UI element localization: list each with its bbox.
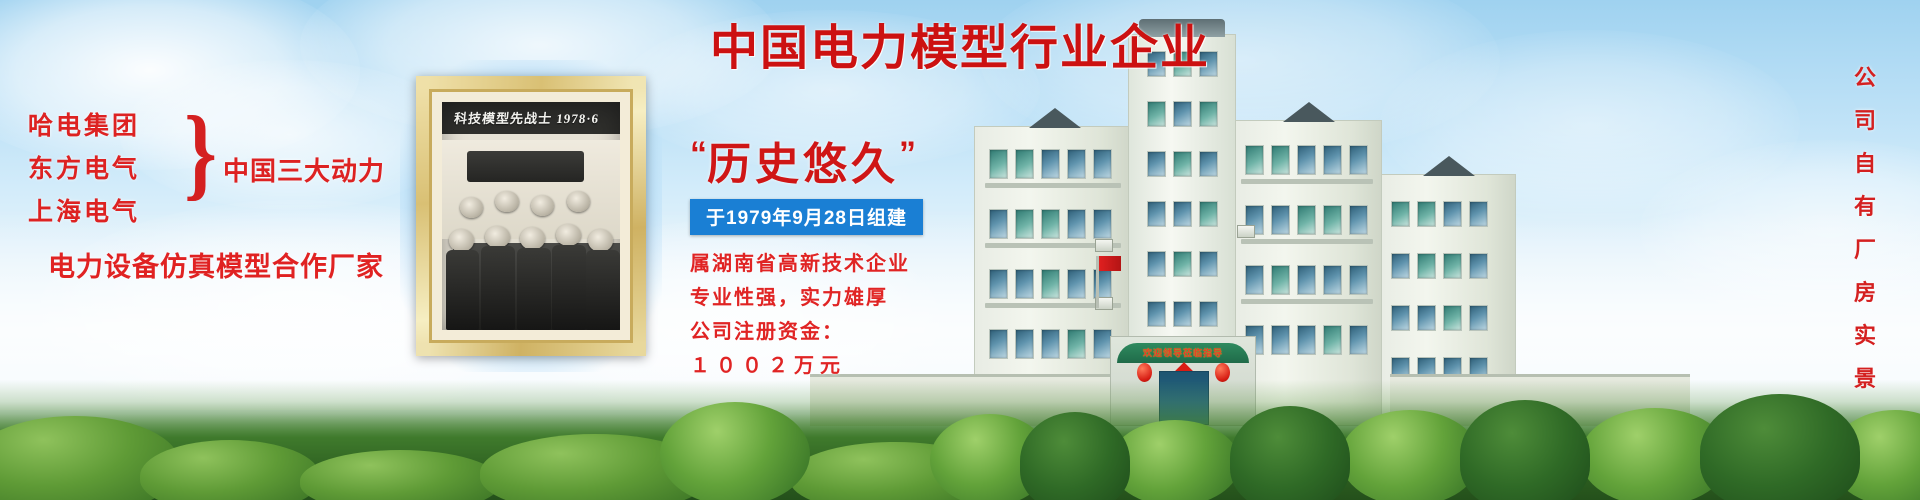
window — [1199, 101, 1218, 127]
vertical-char: 有 — [1848, 185, 1882, 228]
tree — [660, 402, 810, 500]
photo-person-head — [556, 224, 581, 247]
window — [1469, 253, 1488, 279]
window — [989, 209, 1008, 239]
history-headline: “历史悠久” — [690, 126, 923, 193]
photo-desk — [467, 151, 584, 181]
window — [1297, 145, 1316, 175]
vertical-char: 司 — [1848, 99, 1882, 142]
window — [1323, 265, 1342, 295]
window — [1147, 301, 1166, 327]
window — [1041, 209, 1060, 239]
three-power-group: 哈电集团 东方电气 上海电气 } 中国三大动力 — [28, 105, 338, 235]
window — [1323, 205, 1342, 235]
balcony-rail — [1241, 299, 1373, 304]
window-row — [1245, 265, 1368, 295]
window-row — [1147, 151, 1218, 177]
window — [1173, 251, 1192, 277]
window-row — [1245, 145, 1368, 175]
photo-person-body — [517, 248, 551, 330]
window — [1349, 265, 1368, 295]
window — [1417, 305, 1436, 331]
window — [1041, 149, 1060, 179]
tree — [1340, 410, 1480, 500]
promo-banner: 欢迎领导莅临指导 中国电力模型行业企业 哈电集团 东方电气 上海电气 } 中国三… — [0, 0, 1920, 500]
photo-person-head — [460, 197, 483, 218]
window — [1323, 145, 1342, 175]
balcony-rail — [985, 183, 1121, 188]
photo-person-body — [446, 250, 480, 330]
window-row — [1245, 205, 1368, 235]
window — [1469, 305, 1488, 331]
founding-date-badge: 于1979年9月28日组建 — [690, 199, 923, 235]
window — [1199, 251, 1218, 277]
photo-banner-caption: 科技模型先战士 1978·6 — [453, 106, 616, 132]
window-row — [1147, 201, 1218, 227]
photo-person-body — [552, 245, 586, 331]
tree — [1020, 412, 1130, 500]
photo-person-head — [449, 229, 474, 252]
window — [1443, 201, 1462, 227]
window — [1271, 145, 1290, 175]
window — [1093, 209, 1112, 239]
roof-pediment — [1423, 156, 1475, 176]
window — [1041, 269, 1060, 299]
window — [1067, 149, 1086, 179]
three-power-label: 中国三大动力 — [223, 151, 385, 188]
window — [1147, 151, 1166, 177]
photo-people-group — [442, 140, 620, 330]
window-row — [1245, 325, 1368, 355]
window — [1147, 251, 1166, 277]
window-row — [989, 329, 1112, 359]
vertical-char: 景 — [1848, 357, 1882, 400]
window — [1173, 301, 1192, 327]
window — [989, 269, 1008, 299]
window — [1173, 101, 1192, 127]
vertical-char: 自 — [1848, 142, 1882, 185]
window — [1349, 325, 1368, 355]
window-row — [1391, 305, 1488, 331]
window — [1469, 201, 1488, 227]
photo-person-head — [495, 191, 518, 212]
window-row — [1147, 101, 1218, 127]
historic-photo-frame: 科技模型先战士 1978·6 — [416, 76, 646, 356]
window — [1391, 253, 1410, 279]
window — [1041, 329, 1060, 359]
window — [1067, 209, 1086, 239]
window — [989, 149, 1008, 179]
window — [1173, 151, 1192, 177]
quote-open: “ — [690, 135, 707, 173]
window-row — [989, 209, 1112, 239]
window — [1271, 205, 1290, 235]
air-conditioner-unit — [1095, 239, 1113, 252]
window-row — [1147, 251, 1218, 277]
window — [1271, 325, 1290, 355]
tree — [1700, 394, 1860, 500]
window — [1417, 201, 1436, 227]
gold-picture-frame: 科技模型先战士 1978·6 — [416, 76, 646, 356]
photo-person-head — [485, 226, 510, 249]
window — [1015, 329, 1034, 359]
air-conditioner-unit — [1237, 225, 1255, 238]
window — [1015, 269, 1034, 299]
vertical-char: 厂 — [1848, 228, 1882, 271]
factory-building-photo: 欢迎领导莅临指导 — [960, 26, 1600, 426]
photo-person-body — [481, 246, 515, 330]
balcony-rail — [1241, 239, 1373, 244]
center-info-block: “历史悠久” 于1979年9月28日组建 属湖南省高新技术企业 专业性强，实力雄… — [690, 126, 923, 383]
vertical-char: 房 — [1848, 271, 1882, 314]
window — [1147, 201, 1166, 227]
window — [1015, 209, 1034, 239]
window — [1067, 329, 1086, 359]
history-text: 历史悠久 — [707, 140, 899, 189]
window — [1015, 149, 1034, 179]
historic-group-photo: 科技模型先战士 1978·6 — [442, 102, 620, 330]
window — [1199, 151, 1218, 177]
window — [1173, 201, 1192, 227]
photo-person-head — [567, 191, 590, 212]
window — [1297, 205, 1316, 235]
window — [1245, 265, 1264, 295]
vertical-char: 公 — [1848, 56, 1882, 99]
detail-line: 专业性强，实力雄厚 — [690, 281, 923, 315]
brace-icon: } — [184, 101, 217, 205]
window — [1323, 325, 1342, 355]
window — [1349, 145, 1368, 175]
vertical-char: 实 — [1848, 314, 1882, 357]
registered-capital-value: １００２万元 — [690, 349, 923, 383]
right-vertical-caption: 公 司 自 有 厂 房 实 景 — [1848, 56, 1882, 400]
window-row — [1147, 301, 1218, 327]
window — [1199, 201, 1218, 227]
quote-close: ” — [899, 135, 916, 173]
photo-person-head — [588, 229, 613, 252]
page-title: 中国电力模型行业企业 — [0, 8, 1920, 78]
window-row — [1391, 201, 1488, 227]
detail-line: 属湖南省高新技术企业 — [690, 247, 923, 281]
window — [1297, 265, 1316, 295]
photo-person-head — [531, 195, 554, 216]
company-detail-list: 属湖南省高新技术企业 专业性强，实力雄厚 公司注册资金： １００２万元 — [690, 247, 923, 383]
window-row — [1391, 253, 1488, 279]
left-info-block: 哈电集团 东方电气 上海电气 } 中国三大动力 电力设备仿真模型合作厂家 — [28, 105, 338, 235]
window — [1067, 269, 1086, 299]
national-flag — [1096, 256, 1099, 308]
window — [1443, 253, 1462, 279]
left-tagline: 电力设备仿真模型合作厂家 — [48, 245, 384, 284]
tree — [1230, 406, 1350, 500]
window — [1093, 149, 1112, 179]
tree — [1460, 400, 1590, 500]
detail-line: 公司注册资金： — [690, 315, 923, 349]
window-row — [989, 269, 1112, 299]
window — [1297, 325, 1316, 355]
roof-pediment — [1029, 108, 1081, 128]
window — [1271, 265, 1290, 295]
entrance-sign-text: 欢迎领导莅临指导 — [1121, 345, 1245, 361]
window — [1245, 145, 1264, 175]
window — [1443, 305, 1462, 331]
window — [1417, 253, 1436, 279]
power-company-row: 哈电集团 — [28, 105, 338, 148]
window — [1349, 205, 1368, 235]
roof-pediment — [1283, 102, 1335, 122]
window — [1391, 201, 1410, 227]
power-company-row: 上海电气 — [28, 191, 338, 234]
balcony-rail — [1241, 179, 1373, 184]
window — [1391, 305, 1410, 331]
window — [1199, 301, 1218, 327]
window — [989, 329, 1008, 359]
window-row — [989, 149, 1112, 179]
photo-person-body — [586, 250, 620, 330]
window — [1147, 101, 1166, 127]
